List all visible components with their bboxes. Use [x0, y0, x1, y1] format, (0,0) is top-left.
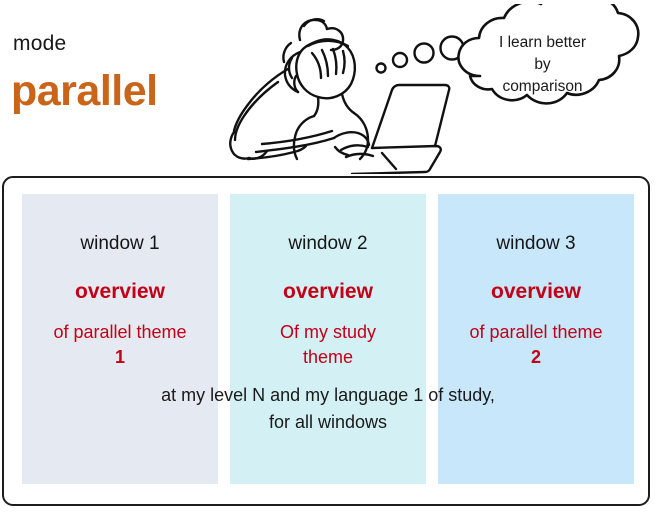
thought-line-2: by	[455, 54, 630, 76]
window-panel-1-title: window 1	[22, 232, 218, 256]
header-area: mode parallel	[0, 0, 656, 174]
window-panel-3[interactable]: window 3 overview of parallel theme 2	[438, 194, 634, 484]
mode-label: mode	[13, 32, 66, 56]
mode-value: parallel	[11, 66, 158, 116]
window-panel-2-sub-line-1: Of my study	[280, 322, 376, 342]
window-panel-2-sub-line-2: theme	[230, 345, 426, 370]
window-panel-1[interactable]: window 1 overview of parallel theme 1	[22, 194, 218, 484]
window-panel-3-sub-line-2: 2	[438, 345, 634, 370]
thought-line-1: I learn better	[455, 32, 630, 54]
window-panel-2-title: window 2	[230, 232, 426, 256]
window-panel-1-sub-line-1: of parallel theme	[53, 322, 186, 342]
parallel-mode-frame: window 1 overview of parallel theme 1 wi…	[2, 176, 650, 506]
window-panel-3-subtitle: of parallel theme 2	[438, 320, 634, 370]
window-panel-2[interactable]: window 2 overview Of my study theme	[230, 194, 426, 484]
window-panel-1-heading: overview	[22, 279, 218, 305]
window-panel-1-sub-line-2: 1	[22, 345, 218, 370]
window-panel-3-title: window 3	[438, 232, 634, 256]
windows-container: window 1 overview of parallel theme 1 wi…	[22, 194, 634, 484]
thought-bubble-text: I learn better by comparison	[455, 32, 630, 98]
window-panel-2-subtitle: Of my study theme	[230, 320, 426, 370]
window-panel-1-subtitle: of parallel theme 1	[22, 320, 218, 370]
window-panel-3-sub-line-1: of parallel theme	[469, 322, 602, 342]
window-panel-2-heading: overview	[230, 279, 426, 305]
window-panel-3-heading: overview	[438, 279, 634, 305]
thought-line-3: comparison	[455, 76, 630, 98]
